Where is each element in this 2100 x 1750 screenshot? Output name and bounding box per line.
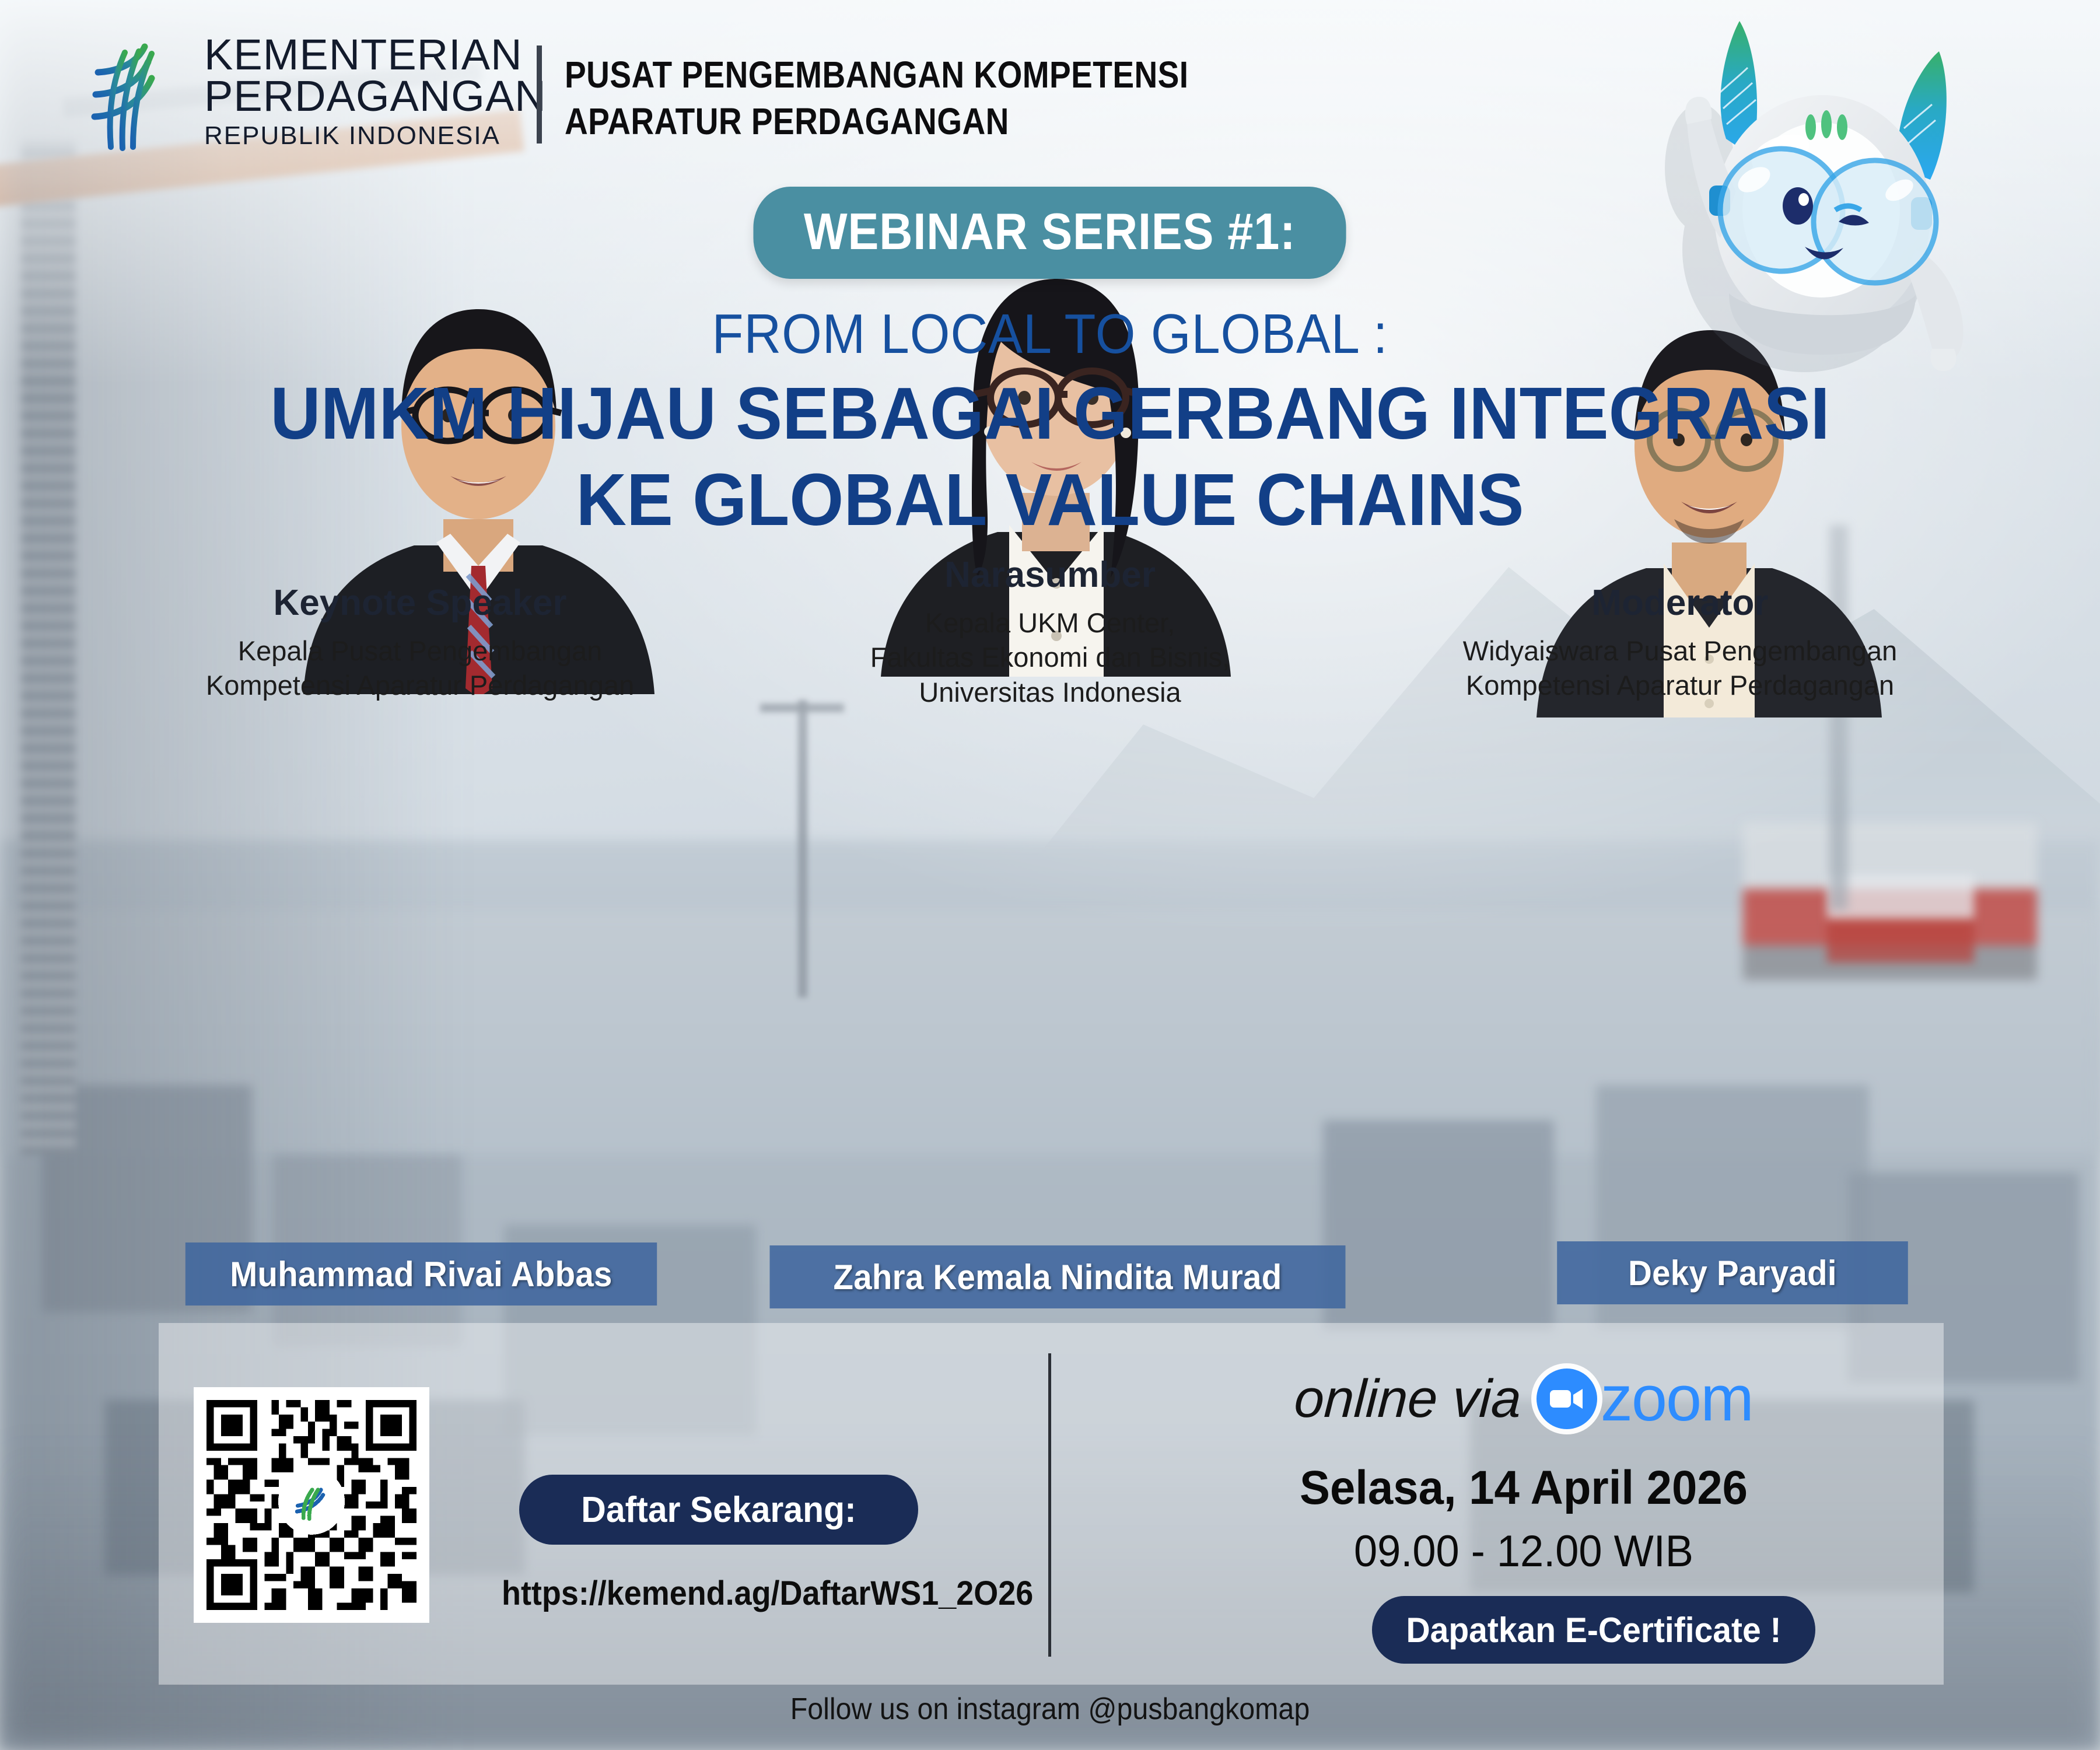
info-panel: Daftar Sekarang: https://kemend.ag/Dafta… [159, 1323, 1944, 1685]
speaker-block-keynote: Keynote Speaker Kepala Pusat Pengembanga… [134, 583, 706, 703]
ministry-of-trade-logo-icon [75, 36, 191, 153]
speaker-block-moderator: Moderator Widyaiswara Pusat Pengembangan… [1394, 583, 1966, 703]
title-main-line2: KE GLOBAL VALUE CHAINS [52, 461, 2048, 539]
title-block: WEBINAR SERIES #1: FROM LOCAL TO GLOBAL … [0, 187, 2100, 538]
ministry-logo-lockup: KEMENTERIAN PERDAGANGAN REPUBLIK INDONES… [75, 34, 547, 155]
unit-name-line2: APARATUR PERDAGANGAN [565, 98, 1189, 145]
header: KEMENTERIAN PERDAGANGAN REPUBLIK INDONES… [0, 0, 2100, 175]
speaker-affiliation: Widyaiswara Pusat Pengembangan Kompetens… [1394, 633, 1966, 702]
speakers-section: Keynote Speaker Kepala Pusat Pengembanga… [0, 583, 2100, 1301]
speaker-role: Narasumber [764, 555, 1336, 595]
online-via-label: online via [1293, 1368, 1522, 1430]
event-date: Selasa, 14 April 2026 [1158, 1461, 1889, 1515]
speaker-role: Keynote Speaker [134, 583, 706, 623]
e-certificate-button[interactable]: Dapatkan E-Certificate ! [1372, 1596, 1815, 1664]
event-time: 09.00 - 12.00 WIB [1158, 1526, 1889, 1577]
ministry-name-line3: REPUBLIK INDONESIA [204, 117, 547, 155]
ministry-name-line2: PERDAGANGAN [204, 75, 547, 117]
ministry-logo-text: KEMENTERIAN PERDAGANGAN REPUBLIK INDONES… [204, 34, 547, 155]
title-subtitle: FROM LOCAL TO GLOBAL : [84, 302, 2016, 366]
qr-code-icon [206, 1400, 416, 1610]
registration-url[interactable]: https://kemend.ag/DaftarWS1_2O26 [502, 1574, 936, 1613]
footer-instagram: Follow us on instagram @pusbangkomap [73, 1692, 2027, 1727]
speaker-affiliation: Kepala UKM Center, Fakultas Ekonomi dan … [764, 605, 1336, 709]
speaker-block-narasumber: Narasumber Kepala UKM Center, Fakultas E… [764, 583, 1336, 709]
speaker-name-banner: Deky Paryadi [1557, 1241, 1908, 1304]
qr-code[interactable] [194, 1387, 429, 1623]
speaker-affiliation: Kepala Pusat Pengembangan Kompetensi Apa… [134, 633, 706, 702]
unit-name-line1: PUSAT PENGEMBANGAN KOMPETENSI [565, 51, 1189, 98]
speaker-role: Moderator [1394, 583, 1966, 623]
speaker-name-banner: Muhammad Rivai Abbas [185, 1242, 657, 1305]
zoom-logo: zoom [1536, 1368, 1753, 1429]
header-divider [537, 45, 542, 143]
register-button[interactable]: Daftar Sekarang: [519, 1475, 918, 1545]
online-platform-row: online via zoom [1139, 1352, 1909, 1445]
ministry-name-line1: KEMENTERIAN [204, 34, 547, 75]
panel-divider [1048, 1353, 1051, 1657]
zoom-camera-icon [1536, 1368, 1597, 1429]
series-badge: WEBINAR SERIES #1: [754, 187, 1346, 279]
speaker-name-banner: Zahra Kemala Nindita Murad [770, 1245, 1346, 1308]
unit-name: PUSAT PENGEMBANGAN KOMPETENSI APARATUR P… [565, 51, 1290, 145]
title-main-line1: UMKM HIJAU SEBAGAI GERBANG INTEGRASI [52, 374, 2048, 453]
zoom-wordmark: zoom [1601, 1371, 1753, 1426]
